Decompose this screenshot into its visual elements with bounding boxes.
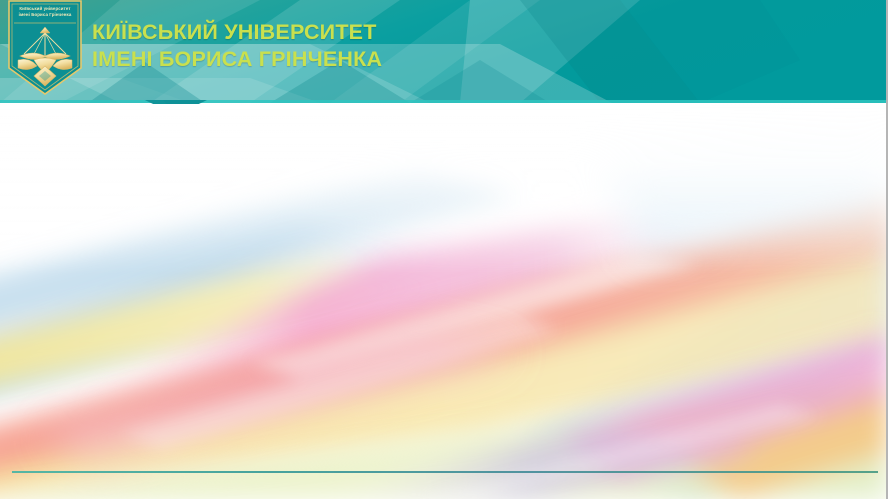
university-name-heading: КИЇВСЬКИЙ УНІВЕРСИТЕТ ІМЕНІ БОРИСА ГРІНЧ… bbox=[92, 19, 382, 73]
slide-header-band: Київський університет імені Бориса Грінч… bbox=[0, 0, 888, 103]
slide-title: Громадянська участь у житті суспільства bbox=[44, 158, 844, 274]
header-diamond-tab bbox=[145, 100, 207, 114]
university-logo: Київський університет імені Бориса Грінч… bbox=[6, 0, 84, 95]
footer-rule bbox=[12, 471, 878, 473]
header-bottom-rule bbox=[0, 100, 888, 103]
presentation-slide: Київський університет імені Бориса Грінч… bbox=[0, 0, 888, 499]
